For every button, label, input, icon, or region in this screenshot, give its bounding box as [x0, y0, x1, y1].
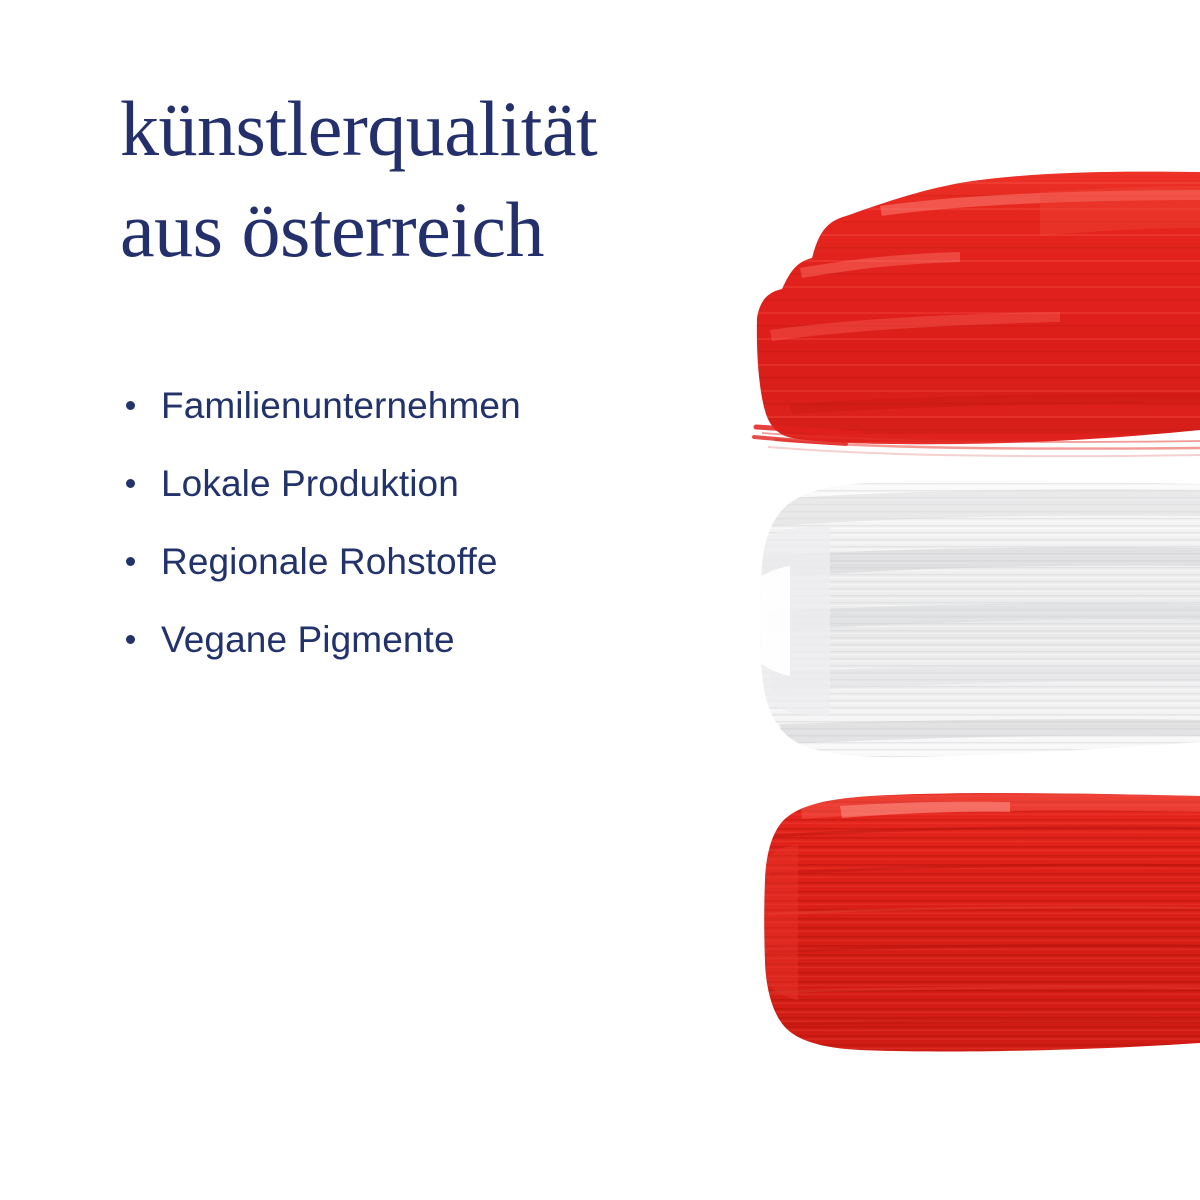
bottom-red-stroke	[750, 785, 1200, 1065]
feature-label: Familienunternehmen	[161, 387, 521, 424]
bullet-dot-icon	[126, 401, 135, 410]
feature-label: Regionale Rohstoffe	[161, 543, 498, 580]
headline-line-1: künstlerqualität	[120, 78, 780, 179]
bullet-dot-icon	[126, 479, 135, 488]
feature-list: Familienunternehmen Lokale Produktion Re…	[125, 366, 765, 678]
text-column: künstlerqualitätaus österreich Familienu…	[120, 78, 780, 281]
bullet-dot-icon	[126, 635, 135, 644]
top-red-drybrush	[754, 427, 1200, 456]
list-item: Lokale Produktion	[125, 444, 765, 522]
list-item: Regionale Rohstoffe	[125, 522, 765, 600]
list-item: Vegane Pigmente	[125, 600, 765, 678]
page-title: künstlerqualitätaus österreich	[120, 78, 780, 281]
middle-white-stroke	[750, 470, 1200, 770]
bullet-dot-icon	[126, 557, 135, 566]
list-item: Familienunternehmen	[125, 366, 765, 444]
poster-canvas: künstlerqualitätaus österreich Familienu…	[0, 0, 1200, 1200]
headline-line-2: aus österreich	[120, 179, 780, 280]
feature-label: Vegane Pigmente	[161, 621, 455, 658]
feature-label: Lokale Produktion	[161, 465, 459, 502]
top-red-stroke	[740, 160, 1200, 460]
